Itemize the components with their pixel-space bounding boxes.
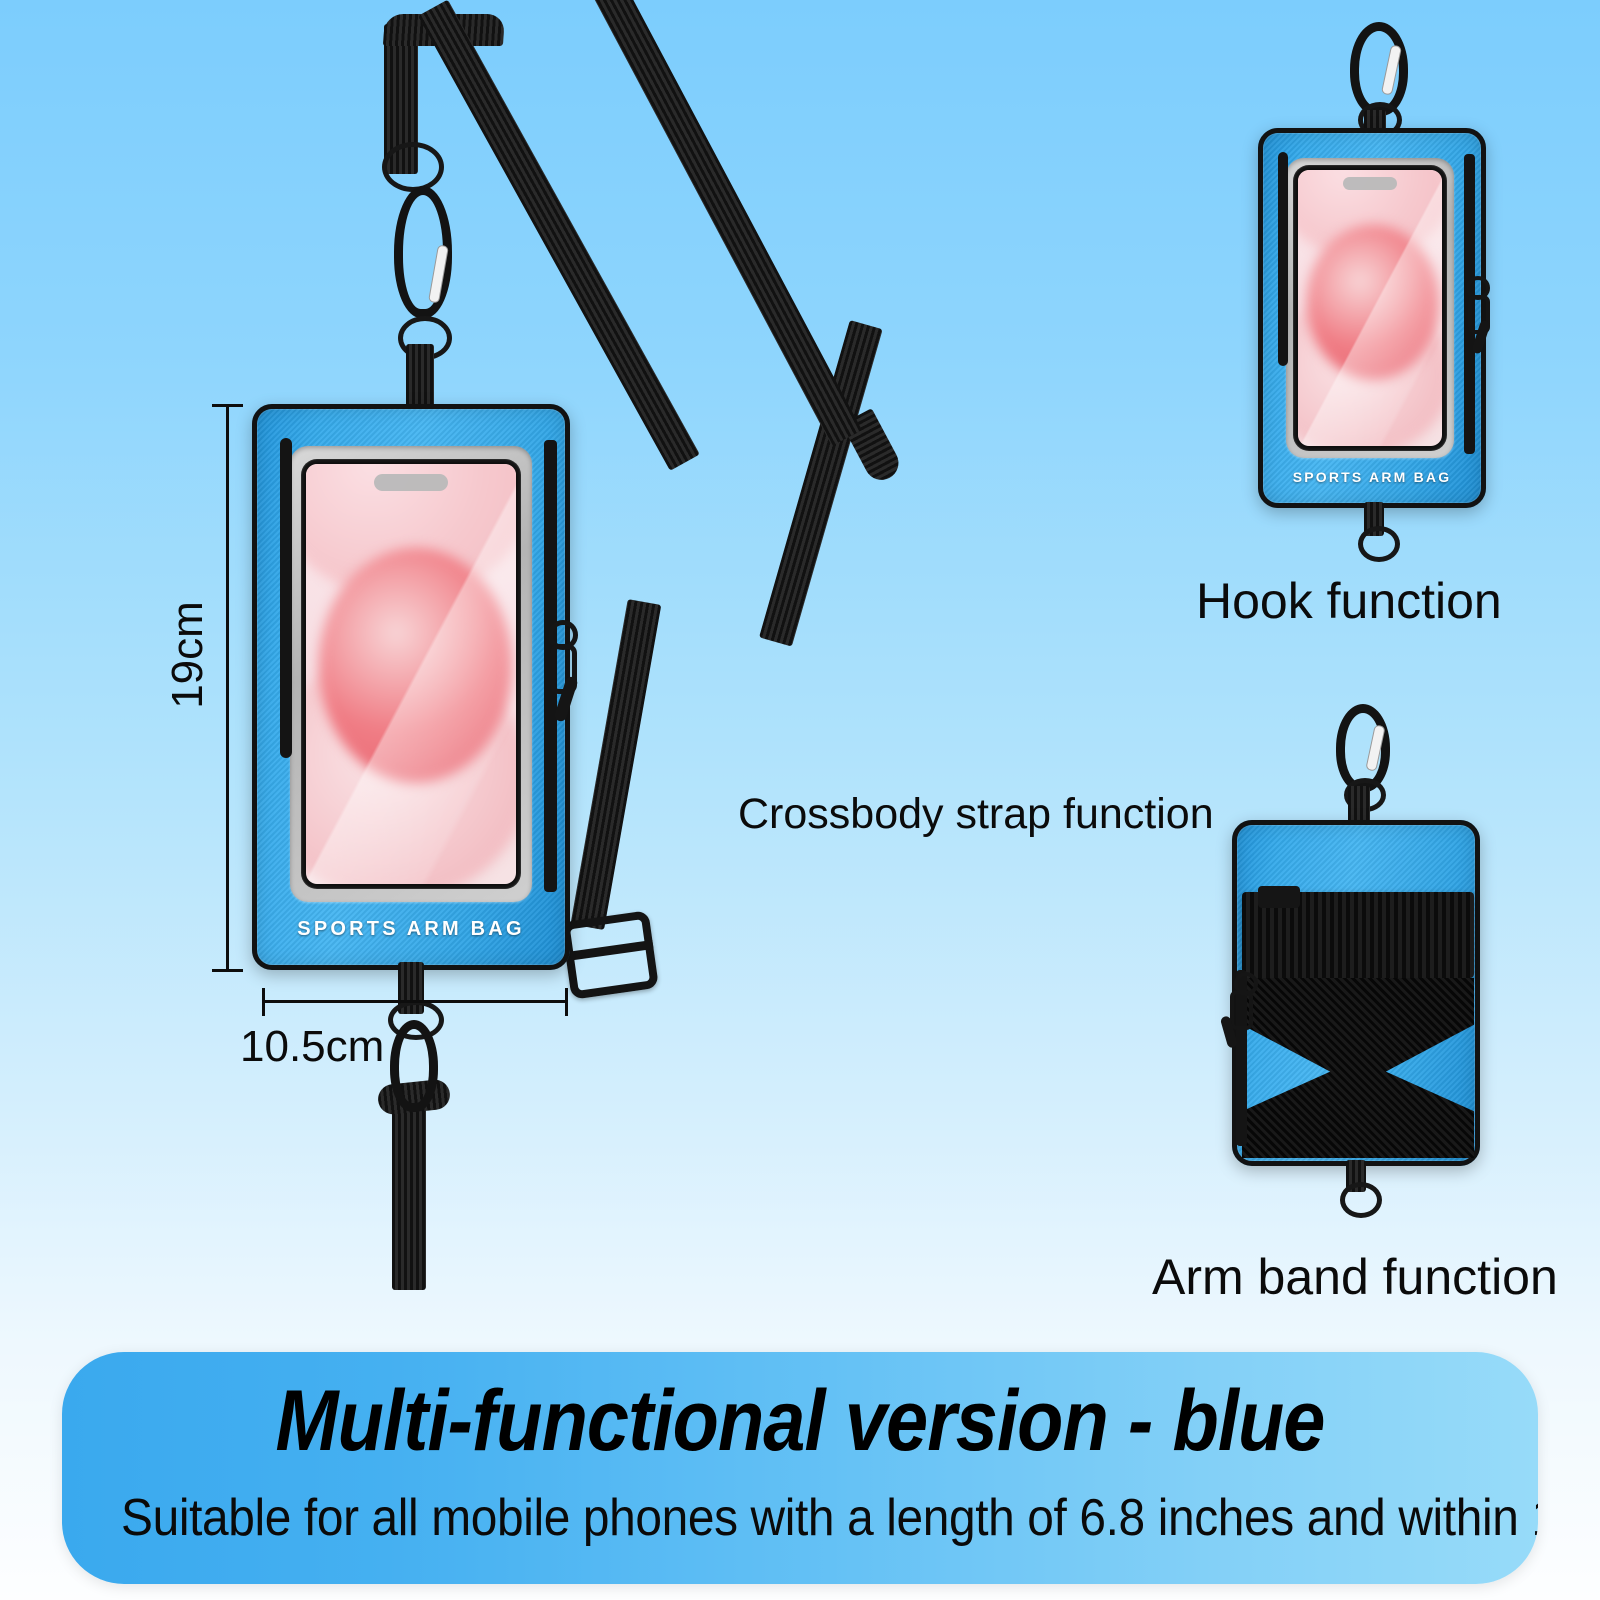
armband-pouch-back — [1232, 820, 1480, 1166]
top-carabiner-hook — [394, 186, 452, 318]
bottom-banner: Multi-functional version - blue Suitable… — [62, 1352, 1538, 1584]
callout-crossbody: Crossbody strap function — [738, 790, 1214, 839]
height-dimension-line — [226, 404, 229, 972]
hook-phone-screen — [1298, 170, 1442, 446]
phone-inside-pouch — [302, 460, 520, 888]
phone-screen — [306, 464, 516, 884]
hook-zipper-pull — [1458, 276, 1494, 356]
dynamic-island — [374, 474, 448, 491]
shoulder-strap-lower-run — [571, 599, 662, 930]
zipper-pull — [538, 620, 582, 724]
width-dimension-cap-left — [262, 988, 265, 1016]
hook-pouch: SPORTS ARM BAG — [1258, 128, 1486, 508]
armband-function-product — [1196, 690, 1526, 1220]
main-product-crossbody: SPORTS ARM BAG 19cm 10.5cm — [0, 0, 960, 1330]
height-dimension-cap-bottom — [212, 969, 243, 972]
width-dimension-line — [262, 1000, 568, 1003]
hook-dynamic-island — [1343, 177, 1397, 190]
callout-hook: Hook function — [1196, 572, 1502, 630]
hook-bottom-d-ring — [1358, 526, 1400, 562]
pouch-left-seam — [280, 438, 292, 758]
bottom-swivel-hook — [390, 1020, 438, 1112]
width-dimension-cap-right — [565, 988, 568, 1016]
banner-subtitle: Suitable for all mobile phones with a le… — [121, 1488, 1479, 1548]
banner-title: Multi-functional version - blue — [151, 1372, 1450, 1471]
top-d-ring — [382, 142, 444, 192]
armband-zipper-pull — [1220, 972, 1258, 1048]
callout-armband: Arm band function — [1152, 1248, 1558, 1306]
top-attachment-tab — [406, 344, 434, 410]
shoulder-strap-long-run — [569, 0, 862, 446]
width-dimension-label: 10.5cm — [240, 1022, 384, 1072]
hook-pouch-left-seam — [1278, 152, 1288, 366]
armband-bottom-d-ring — [1340, 1182, 1382, 1218]
pouch-front: SPORTS ARM BAG — [252, 404, 570, 970]
shoulder-strap-tail — [392, 1090, 426, 1290]
height-dimension-label: 19cm — [163, 601, 213, 709]
hook-function-product: SPORTS ARM BAG — [1218, 18, 1518, 558]
infographic-canvas: SPORTS ARM BAG 19cm 10.5cm Crossb — [0, 0, 1600, 1600]
height-dimension-cap-top — [212, 404, 243, 407]
armband-strap-keeper — [1258, 886, 1300, 908]
hook-phone — [1294, 166, 1446, 450]
strap-adjuster-buckle — [561, 910, 659, 999]
